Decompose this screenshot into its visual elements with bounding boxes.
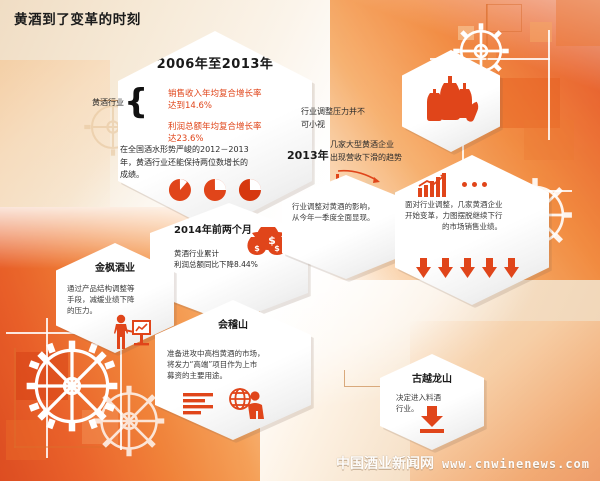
infographic-canvas: 黄酒到了变革的时刻 2006年至2013年 销售收入年均复合增长率 达到14.6… xyxy=(0,0,600,481)
decorative-line xyxy=(548,30,550,140)
pie-chart-icon xyxy=(168,178,192,202)
connector-line xyxy=(344,370,345,387)
card-growth-title: 2006年至2013年 xyxy=(157,53,274,72)
card-profit-drop-title: 2014年前两个月 xyxy=(164,221,252,236)
floating-year-2013-label: 2013年 xyxy=(287,147,329,163)
floating-year-2013-line1: 几家大型黄酒企业 xyxy=(330,139,460,152)
industry-label: 黄酒行业 xyxy=(92,97,124,108)
decorative-line xyxy=(14,348,16,448)
down-arrows-icon xyxy=(416,258,528,284)
card-jinfeng-line2: 手段，减缓业绩下降 xyxy=(67,294,135,305)
watermark-url: www.cnwinenews.com xyxy=(442,457,590,471)
connector-line xyxy=(344,386,380,387)
card-transform-line3: 的市场销售业绩。 xyxy=(442,221,502,232)
card-transform-line2: 开始变革，力图摆脱继续下行 xyxy=(405,210,503,221)
card-q1-impact-line2: 从今年一季度全面显现。 xyxy=(292,212,375,223)
card-guyuelongshan-title: 古越龙山 xyxy=(412,370,452,385)
floating-year-2013-line2: 出现营收下滑的趋势 xyxy=(330,152,460,165)
card-kuaijishan-line3: 募资的主要用途。 xyxy=(167,370,265,381)
ellipsis-dots xyxy=(462,182,487,187)
card-guyuelongshan-line1: 决定进入料酒 xyxy=(396,392,441,403)
card-growth-note: 在全国酒水形势严峻的2012－2013 年，黄酒行业还能保持两位数增长的 成绩。 xyxy=(120,144,290,182)
download-arrow-icon xyxy=(417,406,447,434)
card-q1-impact-line1: 行业调整对黄酒的影响， xyxy=(292,201,375,212)
card-transform-line1: 面对行业调整，几家黄酒企业 xyxy=(405,199,503,210)
wine-bottles-icon xyxy=(423,71,481,129)
svg-text:$: $ xyxy=(254,244,260,253)
card-kuaijishan-line2: 将发力“高端”项目作为上市 xyxy=(167,359,265,370)
watermark: 中国酒业新闻网 www.cnwinenews.com xyxy=(336,453,590,473)
floating-pressure-line1: 行业调整压力并不 xyxy=(301,106,421,119)
card-kuaijishan-title: 会稽山 xyxy=(218,316,248,331)
card-jinfeng-line1: 通过产品结构调整等 xyxy=(67,283,135,294)
decorative-square xyxy=(556,0,600,46)
card-growth-stat1-label: 销售收入年均复合增长率 xyxy=(168,88,262,100)
pie-chart-icon xyxy=(203,178,227,202)
card-growth-stat1-value: 达到14.6% xyxy=(168,100,262,112)
svg-text:$: $ xyxy=(274,244,280,253)
card-jinfeng-title: 金枫酒业 xyxy=(95,259,135,274)
rising-bar-chart-icon xyxy=(418,172,454,198)
watermark-site: 中国酒业新闻网 xyxy=(336,453,434,473)
card-kuaijishan-line1: 准备进攻中高档黄酒的市场， xyxy=(167,348,265,359)
card-growth-stat2-label: 利润总额年均复合增长率 xyxy=(168,121,262,133)
bar-lines-icon xyxy=(183,392,219,418)
page-title: 黄酒到了变革的时刻 xyxy=(14,8,141,28)
pie-chart-icon xyxy=(238,178,262,202)
floating-pressure-line2: 可小视 xyxy=(301,119,421,132)
globe-people-icon xyxy=(228,388,268,422)
card-growth-note-line2: 年，黄酒行业还能保持两位数增长的 xyxy=(120,157,290,170)
brace-bracket: { xyxy=(124,85,148,119)
floating-pressure-text: 行业调整压力并不 可小视 xyxy=(301,106,421,131)
card-profit-drop-line2: 利润总额同比下降8.44% xyxy=(174,259,258,270)
presenter-icon xyxy=(110,313,152,351)
floating-year-2013-text: 几家大型黄酒企业 出现营收下滑的趋势 xyxy=(330,139,460,164)
card-growth-note-line1: 在全国酒水形势严峻的2012－2013 xyxy=(120,144,290,157)
